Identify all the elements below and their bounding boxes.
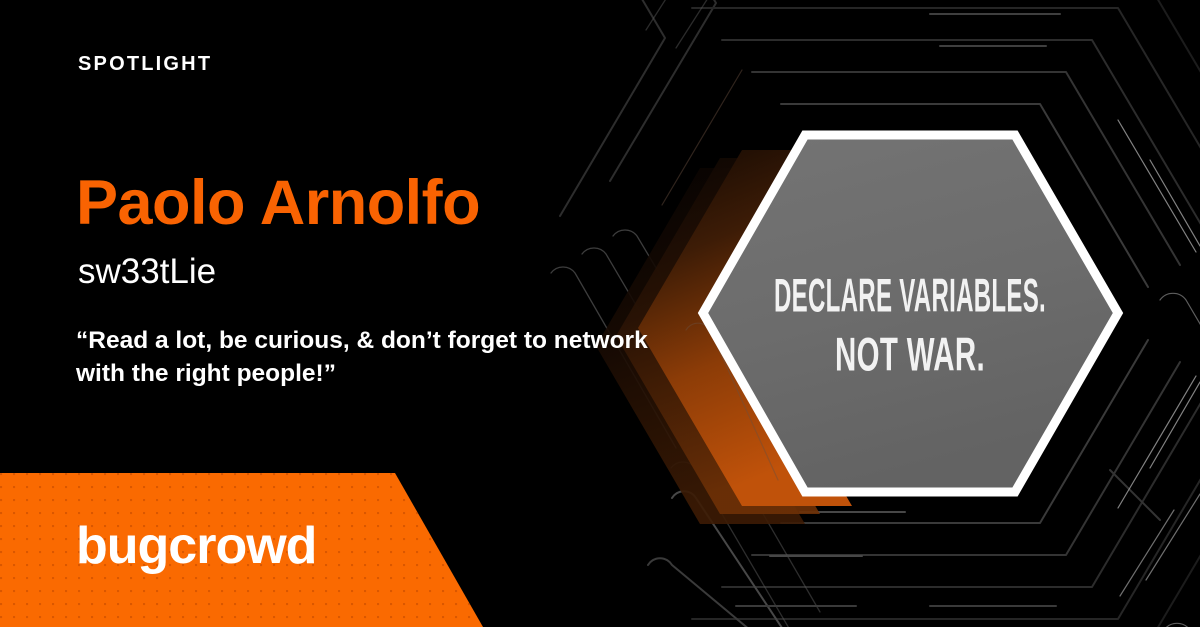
hacker-handle: sw33tLie <box>78 254 216 289</box>
hexagon-sticker: DECLARE VARIABLES. NOT WAR. <box>703 135 1118 492</box>
bugcrowd-wordmark: bugcrowd <box>76 520 316 572</box>
hacker-name: Paolo Arnolfo <box>76 172 480 235</box>
eyebrow-label: SPOTLIGHT <box>78 54 212 74</box>
sticker-line-2: NOT WAR. <box>835 330 985 382</box>
spotlight-graphic: DECLARE VARIABLES. NOT WAR. SPOTLIGHT Pa… <box>0 0 1200 627</box>
sticker-line-1: DECLARE VARIABLES. <box>774 270 1046 322</box>
hacker-quote: “Read a lot, be curious, & don’t forget … <box>76 324 656 391</box>
